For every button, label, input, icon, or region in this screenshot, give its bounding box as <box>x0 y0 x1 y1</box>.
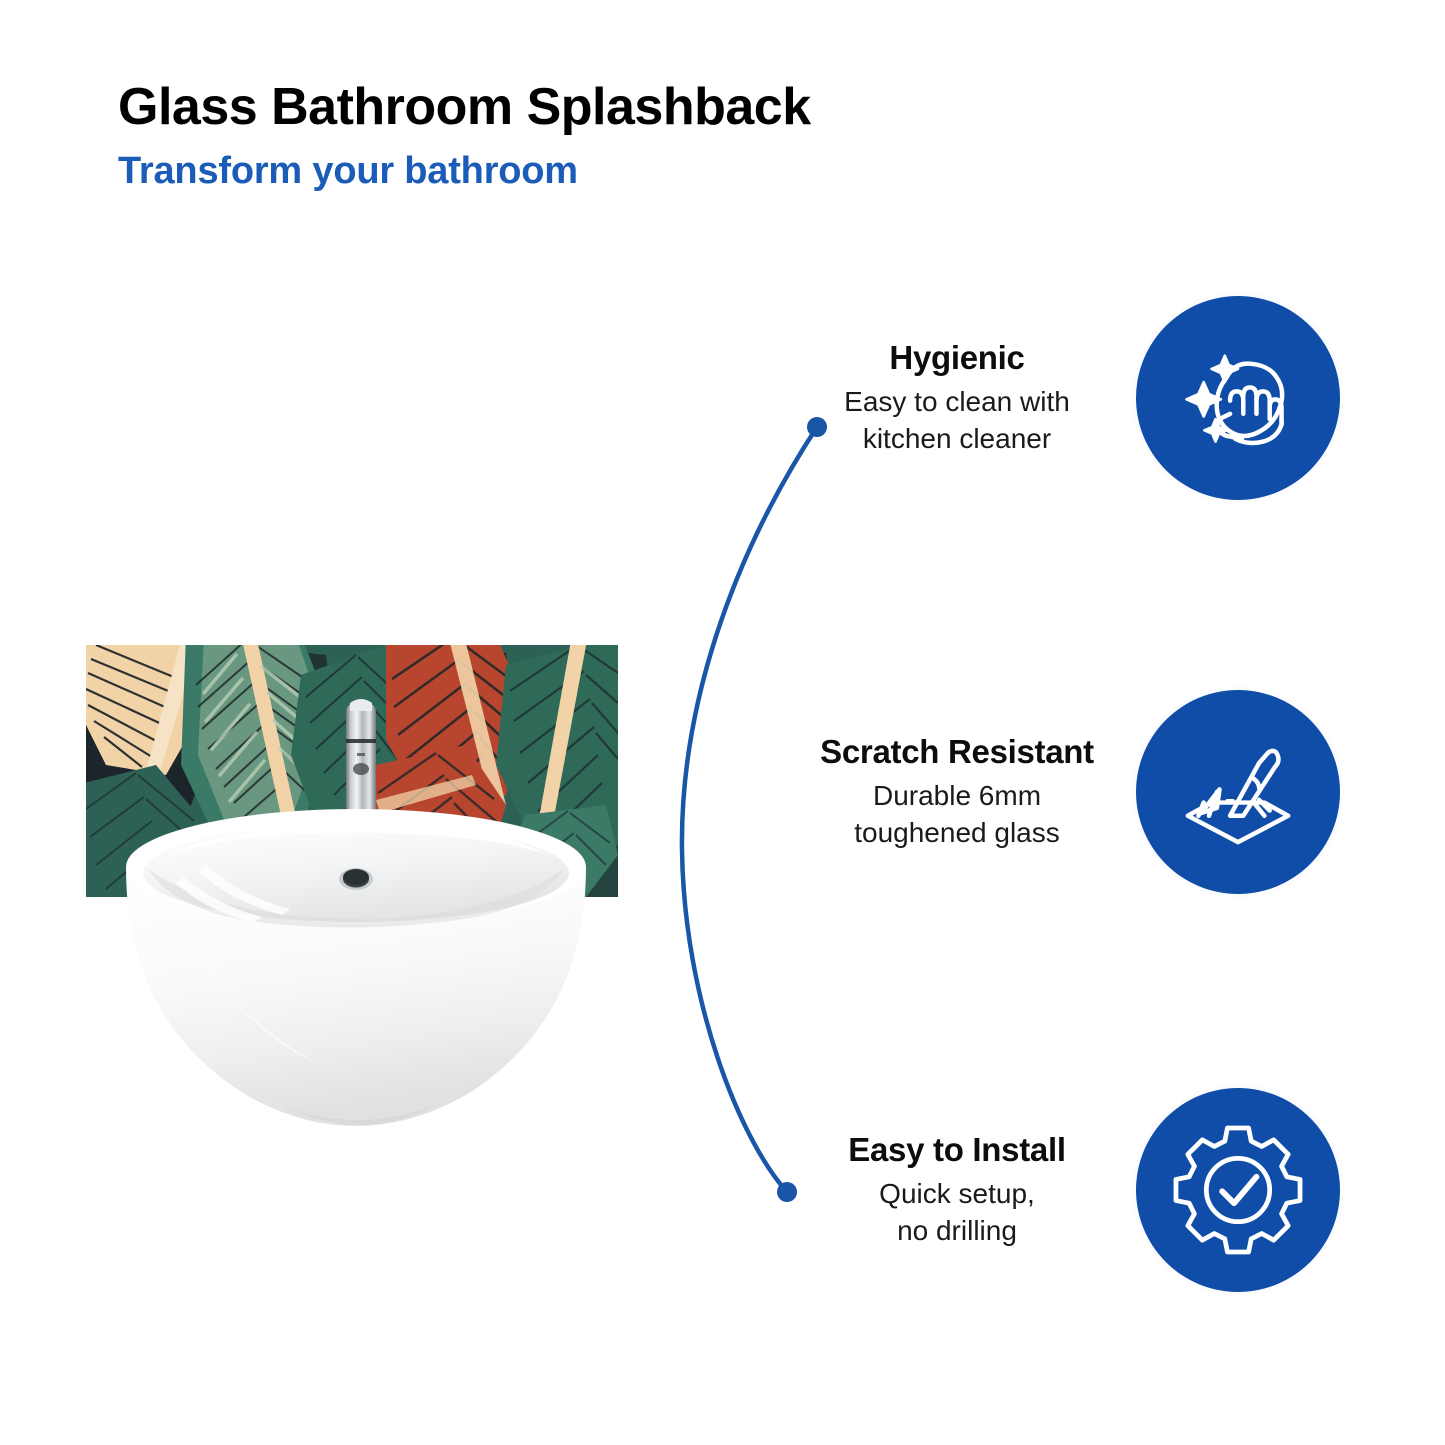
page-title: Glass Bathroom Splashback <box>118 78 1018 136</box>
infographic-page: Glass Bathroom Splashback Transform your… <box>0 0 1445 1445</box>
chrome-tap-icon <box>326 695 396 885</box>
feature-install-text: Easy to Install Quick setup,no drilling <box>800 1130 1136 1250</box>
connector-dot-bottom <box>777 1182 797 1202</box>
feature-hygienic-text: Hygienic Easy to clean withkitchen clean… <box>800 338 1136 458</box>
gear-check-icon <box>1172 1124 1304 1256</box>
page-subtitle: Transform your bathroom <box>118 150 1018 194</box>
feature-hygienic-title: Hygienic <box>800 338 1114 378</box>
feature-scratch-resistant: Scratch Resistant Durable 6mmtoughened g… <box>800 690 1340 894</box>
feature-hygienic-desc: Easy to clean withkitchen cleaner <box>800 384 1114 458</box>
knife-scratch-surface-icon <box>1172 726 1304 858</box>
feature-scratch-text: Scratch Resistant Durable 6mmtoughened g… <box>800 732 1136 852</box>
feature-install-icon-badge <box>1136 1088 1340 1292</box>
feature-scratch-desc: Durable 6mmtoughened glass <box>800 778 1114 852</box>
feature-hygienic-icon-badge <box>1136 296 1340 500</box>
cleaning-hand-sparkle-icon <box>1172 332 1304 464</box>
header: Glass Bathroom Splashback Transform your… <box>118 78 1018 194</box>
feature-scratch-title: Scratch Resistant <box>800 732 1114 772</box>
feature-easy-to-install: Easy to Install Quick setup,no drilling <box>800 1088 1340 1292</box>
feature-scratch-icon-badge <box>1136 690 1340 894</box>
basin-tap <box>326 695 396 885</box>
feature-hygienic: Hygienic Easy to clean withkitchen clean… <box>800 296 1340 500</box>
product-image <box>86 645 618 897</box>
feature-install-desc: Quick setup,no drilling <box>800 1176 1114 1250</box>
feature-install-title: Easy to Install <box>800 1130 1114 1170</box>
